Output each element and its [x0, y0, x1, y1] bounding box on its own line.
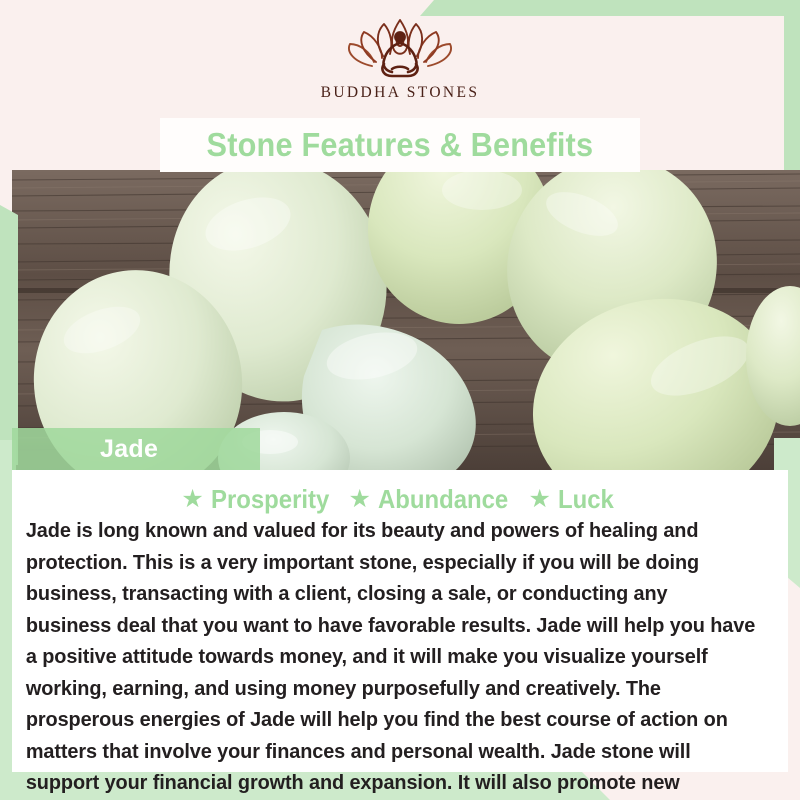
- lotus-meditation-icon: [340, 14, 460, 80]
- keyword-item-prosperity: ★ Prosperity: [181, 484, 339, 515]
- star-icon: ★: [348, 487, 370, 512]
- stone-description: Jade is long known and valued for its be…: [20, 516, 761, 800]
- keyword-label: Luck: [558, 484, 614, 515]
- keyword-label: Abundance: [378, 484, 508, 515]
- page-title: Stone Features & Benefits: [207, 126, 594, 164]
- stone-photo: [12, 170, 800, 470]
- keyword-label: Prosperity: [211, 484, 329, 515]
- star-icon: ★: [528, 487, 550, 512]
- brand-name: BUDDHA STONES: [321, 84, 480, 102]
- brand-header: BUDDHA STONES: [0, 0, 800, 120]
- stone-name: Jade: [100, 435, 158, 464]
- infographic-page: BUDDHA STONES Stone Features & Benefits: [0, 0, 800, 800]
- star-icon: ★: [181, 487, 203, 512]
- keyword-list: ★ Prosperity ★ Abundance ★ Luck: [20, 484, 780, 514]
- content-panel: ★ Prosperity ★ Abundance ★ Luck Jade is …: [12, 470, 788, 772]
- title-banner: Stone Features & Benefits: [160, 118, 640, 172]
- keyword-item-luck: ★ Luck: [528, 484, 618, 515]
- accent-shape-left-upper: [0, 205, 18, 465]
- jade-stones-image: [12, 170, 800, 470]
- keyword-item-abundance: ★ Abundance: [348, 484, 519, 515]
- stone-name-banner: Jade: [12, 428, 260, 470]
